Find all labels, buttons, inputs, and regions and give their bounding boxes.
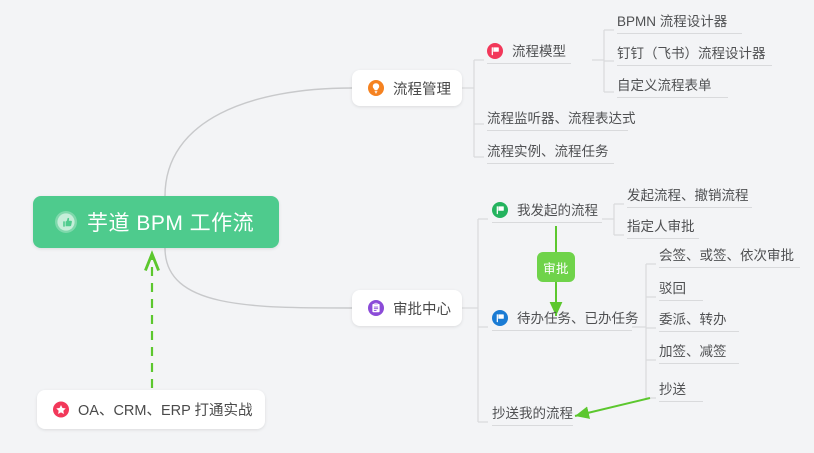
integration-card-label: OA、CRM、ERP 打通实战 — [78, 399, 253, 420]
root-node[interactable]: 芋道 BPM 工作流 — [33, 196, 279, 248]
star-icon — [53, 402, 69, 418]
leaf-label: 钉钉（飞书）流程设计器 — [617, 45, 766, 62]
leaf-label: 流程模型 — [512, 43, 566, 60]
integration-card[interactable]: OA、CRM、ERP 打通实战 — [37, 390, 265, 429]
flag-icon — [492, 202, 508, 218]
leaf-label: 指定人审批 — [627, 218, 695, 235]
leaf-label: 抄送 — [659, 381, 686, 398]
leaf-cc[interactable]: 抄送 — [659, 381, 703, 402]
leaf-flow-model[interactable]: 流程模型 — [487, 43, 571, 64]
clipboard-icon — [368, 300, 384, 316]
edge-approval-center-trunk — [462, 219, 488, 422]
branch-node-flow-manage[interactable]: 流程管理 — [352, 70, 462, 106]
leaf-label: 委派、转办 — [659, 311, 727, 328]
leaf-my-flows[interactable]: 我发起的流程 — [492, 202, 602, 223]
annotation-pill-label: 审批 — [543, 258, 569, 277]
leaf-label: 会签、或签、依次审批 — [659, 247, 794, 264]
leaf-reject[interactable]: 驳回 — [659, 280, 703, 301]
flag-icon — [492, 310, 508, 326]
mindmap-canvas: 芋道 BPM 工作流 流程管理 审批中心 — [0, 0, 814, 453]
edge-flow-model-trunk — [592, 30, 614, 92]
leaf-flow-instance[interactable]: 流程实例、流程任务 — [487, 143, 614, 164]
leaf-label: 自定义流程表单 — [617, 77, 712, 94]
leaf-flow-listener[interactable]: 流程监听器、流程表达式 — [487, 110, 628, 131]
leaf-todo-tasks[interactable]: 待办任务、已办任务 — [492, 310, 632, 331]
branch-label-approval-center: 审批中心 — [393, 298, 451, 319]
leaf-label: BPMN 流程设计器 — [617, 13, 727, 30]
leaf-label: 流程实例、流程任务 — [487, 143, 609, 160]
leaf-countersign[interactable]: 会签、或签、依次审批 — [659, 247, 800, 268]
leaf-label: 加签、减签 — [659, 343, 727, 360]
leaf-label: 发起流程、撤销流程 — [627, 187, 749, 204]
lightbulb-icon — [368, 80, 384, 96]
root-label: 芋道 BPM 工作流 — [87, 207, 254, 237]
leaf-delegate-transfer[interactable]: 委派、转办 — [659, 311, 739, 332]
annotation-arrow-cc-to-ccmyflow — [575, 398, 650, 416]
leaf-label: 流程监听器、流程表达式 — [487, 110, 636, 127]
edge-todo-tasks-trunk — [632, 264, 656, 398]
leaf-start-cancel-flow[interactable]: 发起流程、撤销流程 — [627, 187, 752, 208]
thumbs-up-icon — [55, 211, 77, 233]
leaf-custom-form[interactable]: 自定义流程表单 — [617, 77, 728, 98]
leaf-bpmn-designer[interactable]: BPMN 流程设计器 — [617, 13, 742, 34]
leaf-assignee-approval[interactable]: 指定人审批 — [627, 218, 699, 239]
leaf-label: 待办任务、已办任务 — [517, 310, 639, 327]
annotation-pill-approval: 审批 — [537, 252, 575, 282]
leaf-cc-my-flows[interactable]: 抄送我的流程 — [492, 405, 573, 426]
branch-node-approval-center[interactable]: 审批中心 — [352, 290, 462, 326]
leaf-add-remove-sign[interactable]: 加签、减签 — [659, 343, 739, 364]
edge-my-flows-trunk — [602, 204, 624, 235]
flag-icon — [487, 43, 503, 59]
branch-label-flow-manage: 流程管理 — [393, 78, 451, 99]
leaf-label: 驳回 — [659, 280, 686, 297]
edge-flow-manage-trunk — [462, 60, 484, 157]
leaf-dingtalk-designer[interactable]: 钉钉（飞书）流程设计器 — [617, 45, 772, 66]
edge-root-to-flow-manage — [165, 88, 352, 196]
leaf-label: 我发起的流程 — [517, 202, 598, 219]
edge-root-to-approval-center — [165, 248, 352, 308]
leaf-label: 抄送我的流程 — [492, 405, 573, 422]
